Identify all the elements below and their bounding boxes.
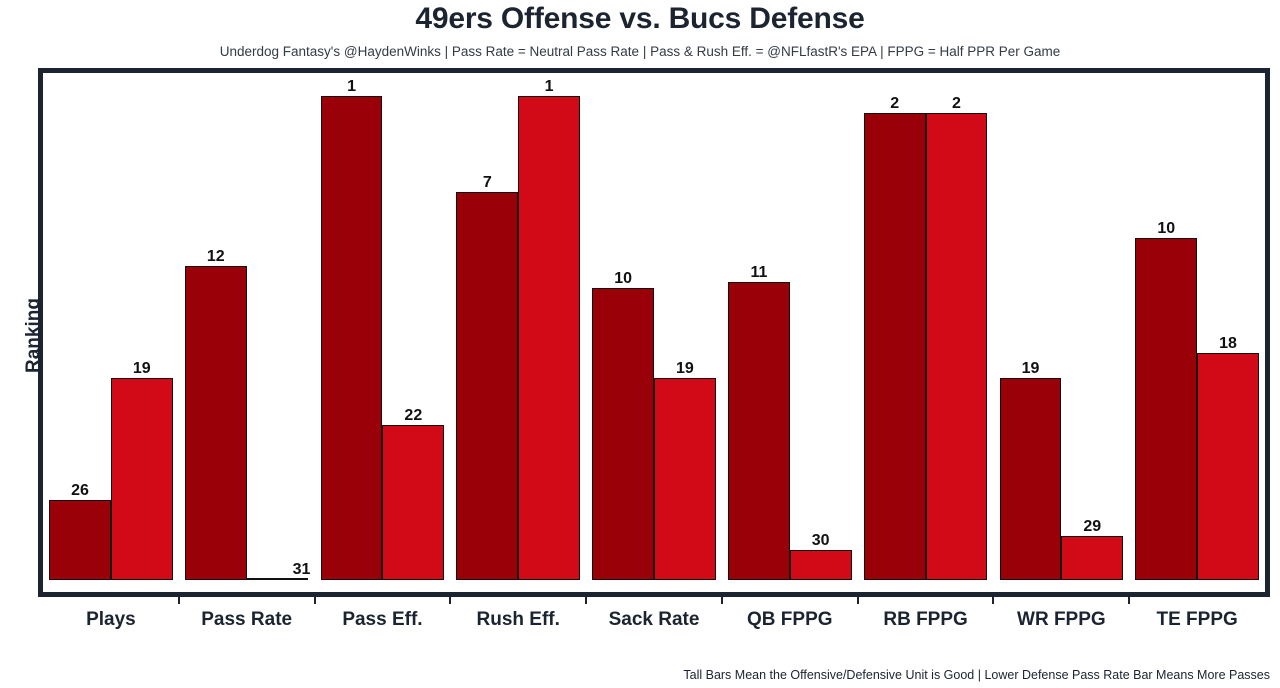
bar-slot: 30 [790,73,852,580]
bar-slot: 22 [382,73,444,580]
bar-value-label: 10 [614,271,632,287]
bar-value-label: 11 [750,265,767,281]
x-axis: PlaysPass RatePass Eff.Rush Eff.Sack Rat… [43,597,1265,637]
bar-offense[interactable]: 10 [1135,238,1197,580]
bar-value-label: 30 [812,533,830,549]
bar-offense[interactable]: 7 [456,192,518,580]
bar-slot: 29 [1061,73,1123,580]
bar-defense[interactable]: 19 [111,378,173,580]
bar-slot: 18 [1197,73,1259,580]
chart-subtitle: Underdog Fantasy's @HaydenWinks | Pass R… [0,44,1280,59]
bar-group-pass-rate: 1231 [179,73,315,580]
chart-root: 49ers Offense vs. Bucs Defense Underdog … [0,0,1280,688]
bar-value-label: 19 [676,361,694,377]
bar-slot: 19 [111,73,173,580]
bar-defense[interactable]: 18 [1197,353,1259,580]
bar-slot: 12 [185,73,247,580]
bar-offense[interactable]: 26 [49,500,111,580]
bar-value-label: 18 [1219,336,1237,352]
bar-value-label: 1 [545,79,554,95]
bar-defense[interactable]: 1 [518,96,580,580]
x-axis-label-rush-eff: Rush Eff. [450,597,586,637]
bar-slot: 10 [592,73,654,580]
bar-slot: 10 [1135,73,1197,580]
chart-title: 49ers Offense vs. Bucs Defense [0,2,1280,36]
bar-offense[interactable]: 2 [864,113,926,580]
bar-group-sack-rate: 1019 [586,73,722,580]
bar-defense[interactable]: 31 [247,578,309,580]
bar-offense[interactable]: 11 [728,282,790,580]
bar-slot: 1 [518,73,580,580]
x-axis-tick [449,597,451,604]
x-axis-label-te-fppg: TE FPPG [1129,597,1265,637]
bar-value-label: 19 [133,361,151,377]
bar-offense[interactable]: 1 [321,96,383,580]
bar-slot: 26 [49,73,111,580]
x-axis-tick [585,597,587,604]
x-axis-label-wr-fppg: WR FPPG [993,597,1129,637]
bar-value-label: 1 [347,79,356,95]
bar-defense[interactable]: 30 [790,550,852,580]
bar-group-te-fppg: 1018 [1129,73,1265,580]
bar-value-label: 26 [71,483,89,499]
bar-slot: 11 [728,73,790,580]
x-axis-label-rb-fppg: RB FPPG [858,597,994,637]
bar-group-wr-fppg: 1929 [993,73,1129,580]
chart-footnote: Tall Bars Mean the Offensive/Defensive U… [683,668,1270,682]
x-axis-label-sack-rate: Sack Rate [586,597,722,637]
x-axis-tick [857,597,859,604]
bar-offense[interactable]: 10 [592,288,654,580]
bar-value-label: 29 [1083,519,1101,535]
x-axis-tick [721,597,723,604]
x-axis-label-plays: Plays [43,597,179,637]
bar-defense[interactable]: 22 [382,425,444,580]
x-axis-tick [314,597,316,604]
bar-slot: 2 [864,73,926,580]
x-axis-tick [178,597,180,604]
bar-group-plays: 2619 [43,73,179,580]
bar-value-label: 10 [1157,221,1175,237]
bar-slot: 19 [1000,73,1062,580]
bar-group-rush-eff: 71 [450,73,586,580]
bar-slot: 31 [247,73,309,580]
bar-slot: 1 [321,73,383,580]
bar-value-label: 2 [952,96,961,112]
bar-value-label: 19 [1022,361,1040,377]
bar-groups: 2619123112271101911302219291018 [43,73,1265,580]
bar-group-qb-fppg: 1130 [722,73,858,580]
x-axis-tick [992,597,994,604]
bar-offense[interactable]: 12 [185,266,247,580]
bar-slot: 19 [654,73,716,580]
bar-value-label: 2 [890,96,899,112]
x-axis-label-pass-eff: Pass Eff. [315,597,451,637]
bar-defense[interactable]: 2 [926,113,988,580]
x-axis-tick [1128,597,1130,604]
bar-group-rb-fppg: 22 [858,73,994,580]
bar-value-label: 22 [404,408,422,424]
y-axis-label: Ranking [23,298,45,373]
bar-slot: 2 [926,73,988,580]
bar-offense[interactable]: 19 [1000,378,1062,580]
bar-group-pass-eff: 122 [315,73,451,580]
bar-slot: 7 [456,73,518,580]
bar-value-label: 7 [483,175,492,191]
bar-defense[interactable]: 29 [1061,536,1123,580]
bar-defense[interactable]: 19 [654,378,716,580]
x-axis-label-pass-rate: Pass Rate [179,597,315,637]
x-axis-label-qb-fppg: QB FPPG [722,597,858,637]
bar-value-label: 31 [293,562,311,578]
bar-value-label: 12 [207,249,225,265]
